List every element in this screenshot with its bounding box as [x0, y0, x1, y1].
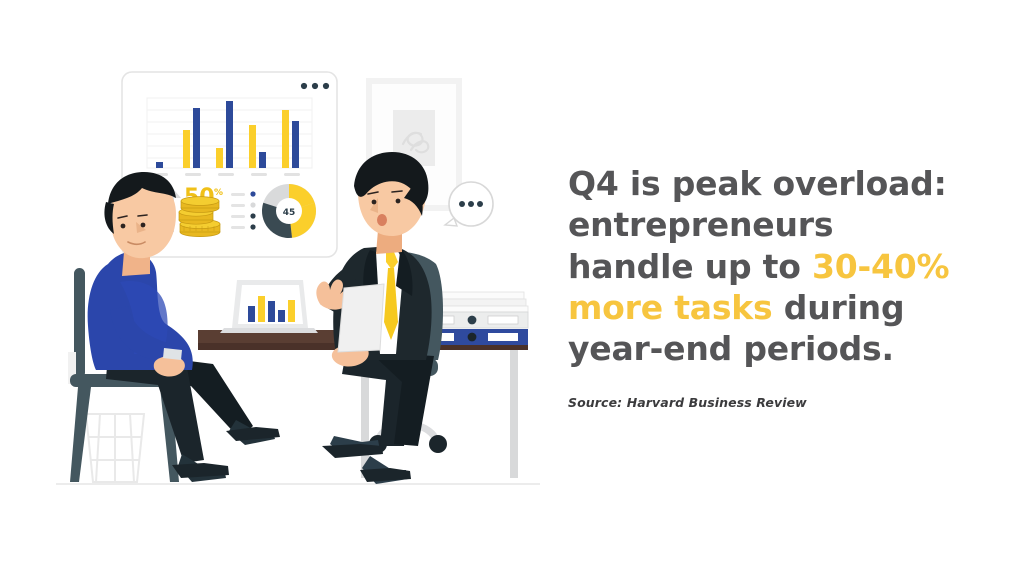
headline-accent-range: 30-40%: [812, 247, 949, 286]
board-bar-chart: [147, 98, 312, 176]
laptop: [220, 280, 318, 333]
donut-chart: 45: [262, 184, 316, 238]
headline-line-4-suffix: during: [772, 288, 904, 327]
headline-line-5: year-end periods.: [568, 329, 894, 368]
donut-center-label: 45: [283, 208, 296, 218]
speech-dots-icon: [459, 201, 483, 207]
illustration-two-businessmen: 50 %: [48, 52, 548, 522]
copy-block: Q4 is peak overload: entrepreneurs handl…: [568, 163, 988, 410]
headline-line-2: entrepreneurs: [568, 205, 833, 244]
headline: Q4 is peak overload: entrepreneurs handl…: [568, 163, 988, 369]
window-dots-icon: [301, 83, 329, 89]
wire-basket: [86, 414, 144, 482]
stat-unit: %: [214, 188, 223, 198]
headline-accent-tasks: more tasks: [568, 288, 772, 327]
headline-line-1: Q4 is peak overload:: [568, 164, 947, 203]
slide-canvas: 50 %: [0, 0, 1024, 576]
headline-line-3-prefix: handle up to: [568, 247, 812, 286]
source-attribution: Source: Harvard Business Review: [568, 395, 988, 410]
paper-sheet: [338, 284, 384, 352]
